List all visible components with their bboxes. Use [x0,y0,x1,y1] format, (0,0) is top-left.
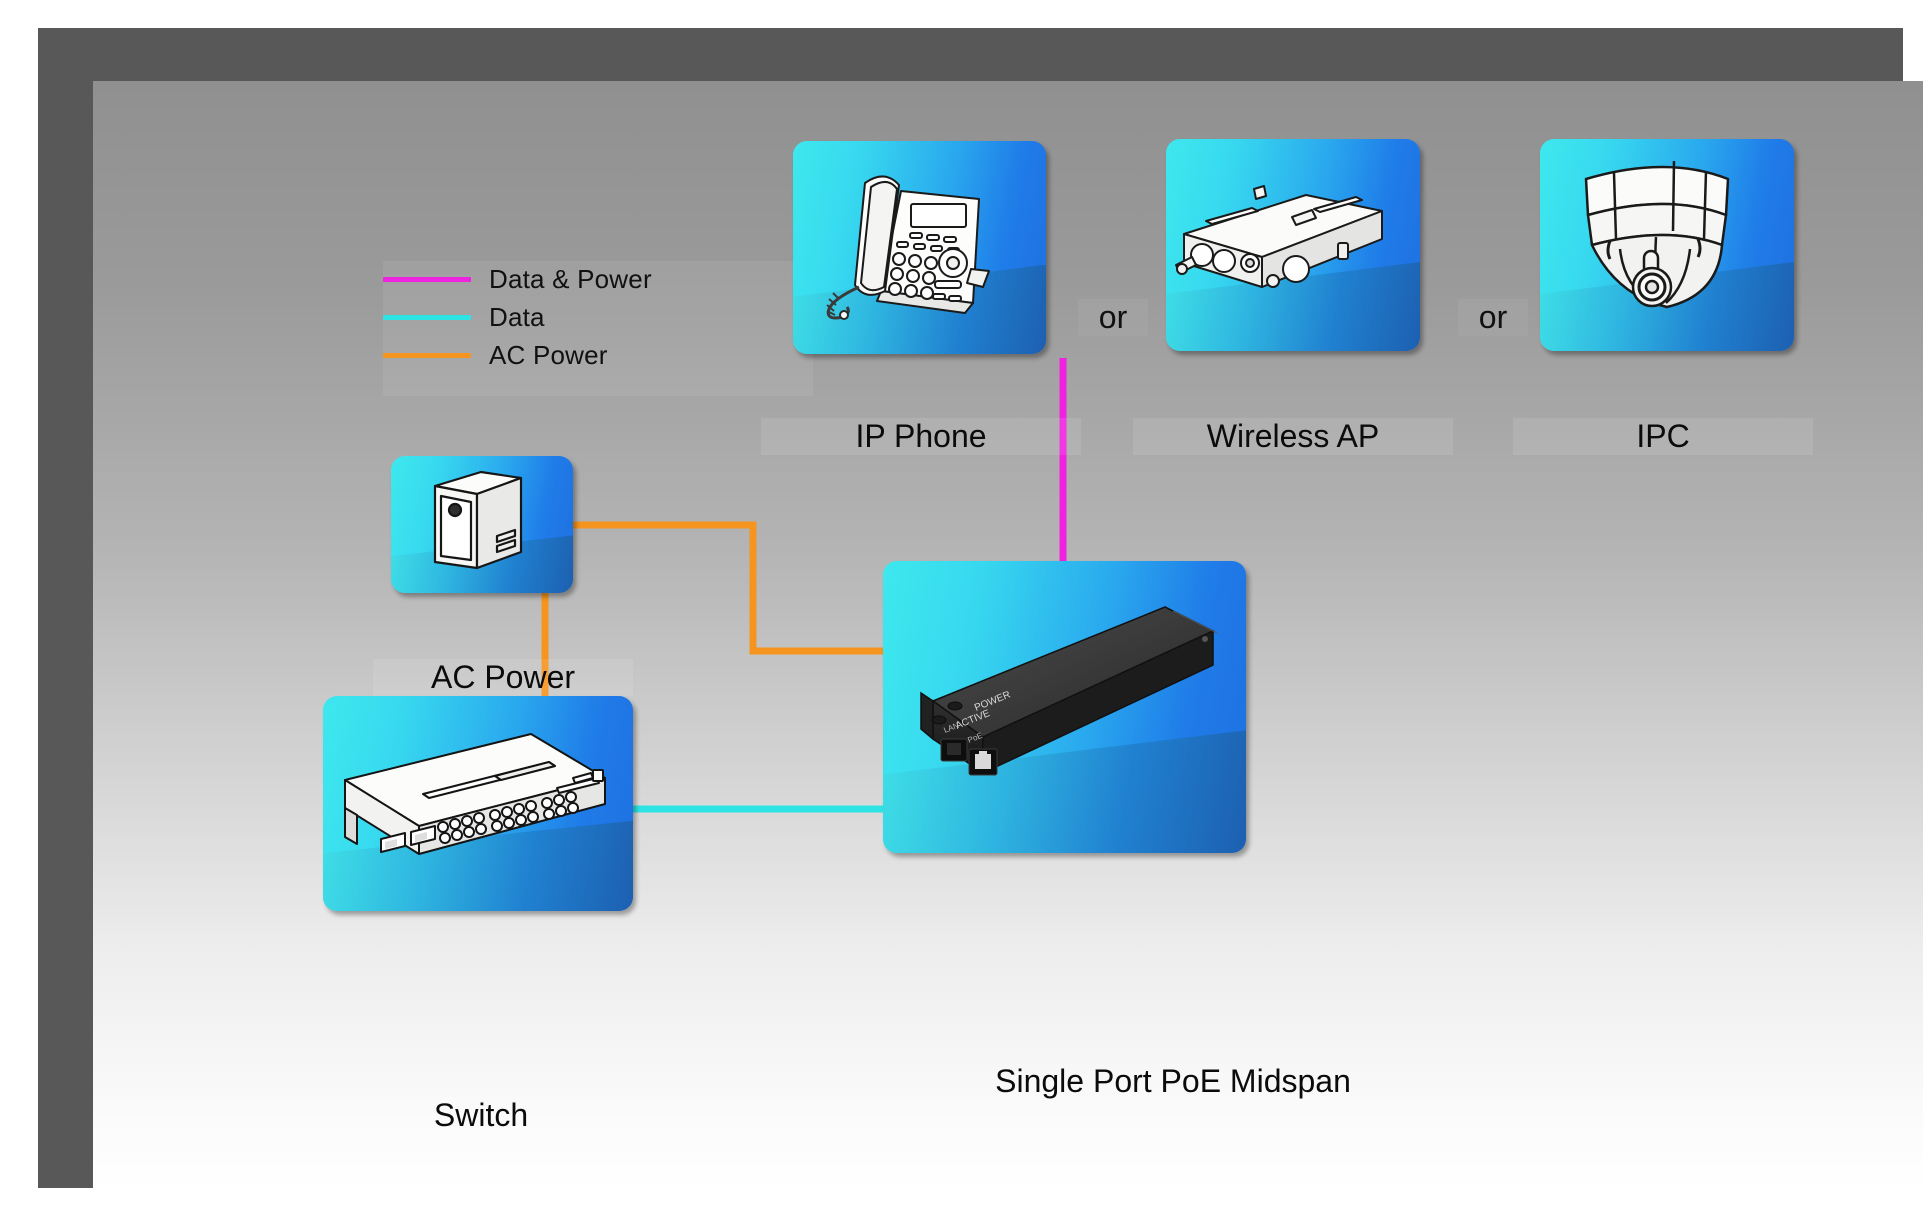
dome-camera-icon [1540,139,1794,351]
device-card-wireless-ap[interactable] [1166,139,1420,351]
legend-swatch-ac-power [383,353,471,358]
legend-swatch-data-and-power [383,277,471,282]
device-label-switch: Switch [361,1097,601,1134]
device-label-ipc: IPC [1513,418,1813,455]
separator-or-2: or [1458,299,1528,336]
legend-item-data-and-power: Data & Power [383,261,652,297]
device-card-switch[interactable] [323,696,633,911]
legend: Data & Power Data AC Power [383,261,813,396]
device-label-poe-midspan: Single Port PoE Midspan [863,1063,1483,1100]
wireless-access-point-icon [1166,139,1420,351]
device-label-ac-power: AC Power [373,659,633,696]
device-label-wireless-ap: Wireless AP [1133,418,1453,455]
network-switch-icon [323,696,633,911]
separator-or-1: or [1078,299,1148,336]
legend-label-ac-power: AC Power [489,340,608,371]
device-label-ip-phone: IP Phone [761,418,1081,455]
diagram-canvas: Data & Power Data AC Power [93,81,1923,1193]
diagram-stage: Data & Power Data AC Power [0,0,1926,1219]
legend-swatch-data [383,315,471,320]
diagram-frame: Data & Power Data AC Power [38,28,1903,1188]
device-card-ip-phone[interactable] [793,141,1046,354]
ip-phone-icon [793,141,1046,354]
legend-label-data: Data [489,302,545,333]
ups-power-supply-icon [391,456,573,593]
legend-item-data: Data [383,299,545,335]
legend-label-data-and-power: Data & Power [489,264,652,295]
device-card-poe-midspan[interactable]: POWER ACTIVE LAN PoE [883,561,1246,853]
device-card-ipc[interactable] [1540,139,1794,351]
legend-item-ac-power: AC Power [383,337,608,373]
device-card-ac-power[interactable] [391,456,573,593]
poe-injector-icon: POWER ACTIVE LAN PoE [883,561,1246,853]
